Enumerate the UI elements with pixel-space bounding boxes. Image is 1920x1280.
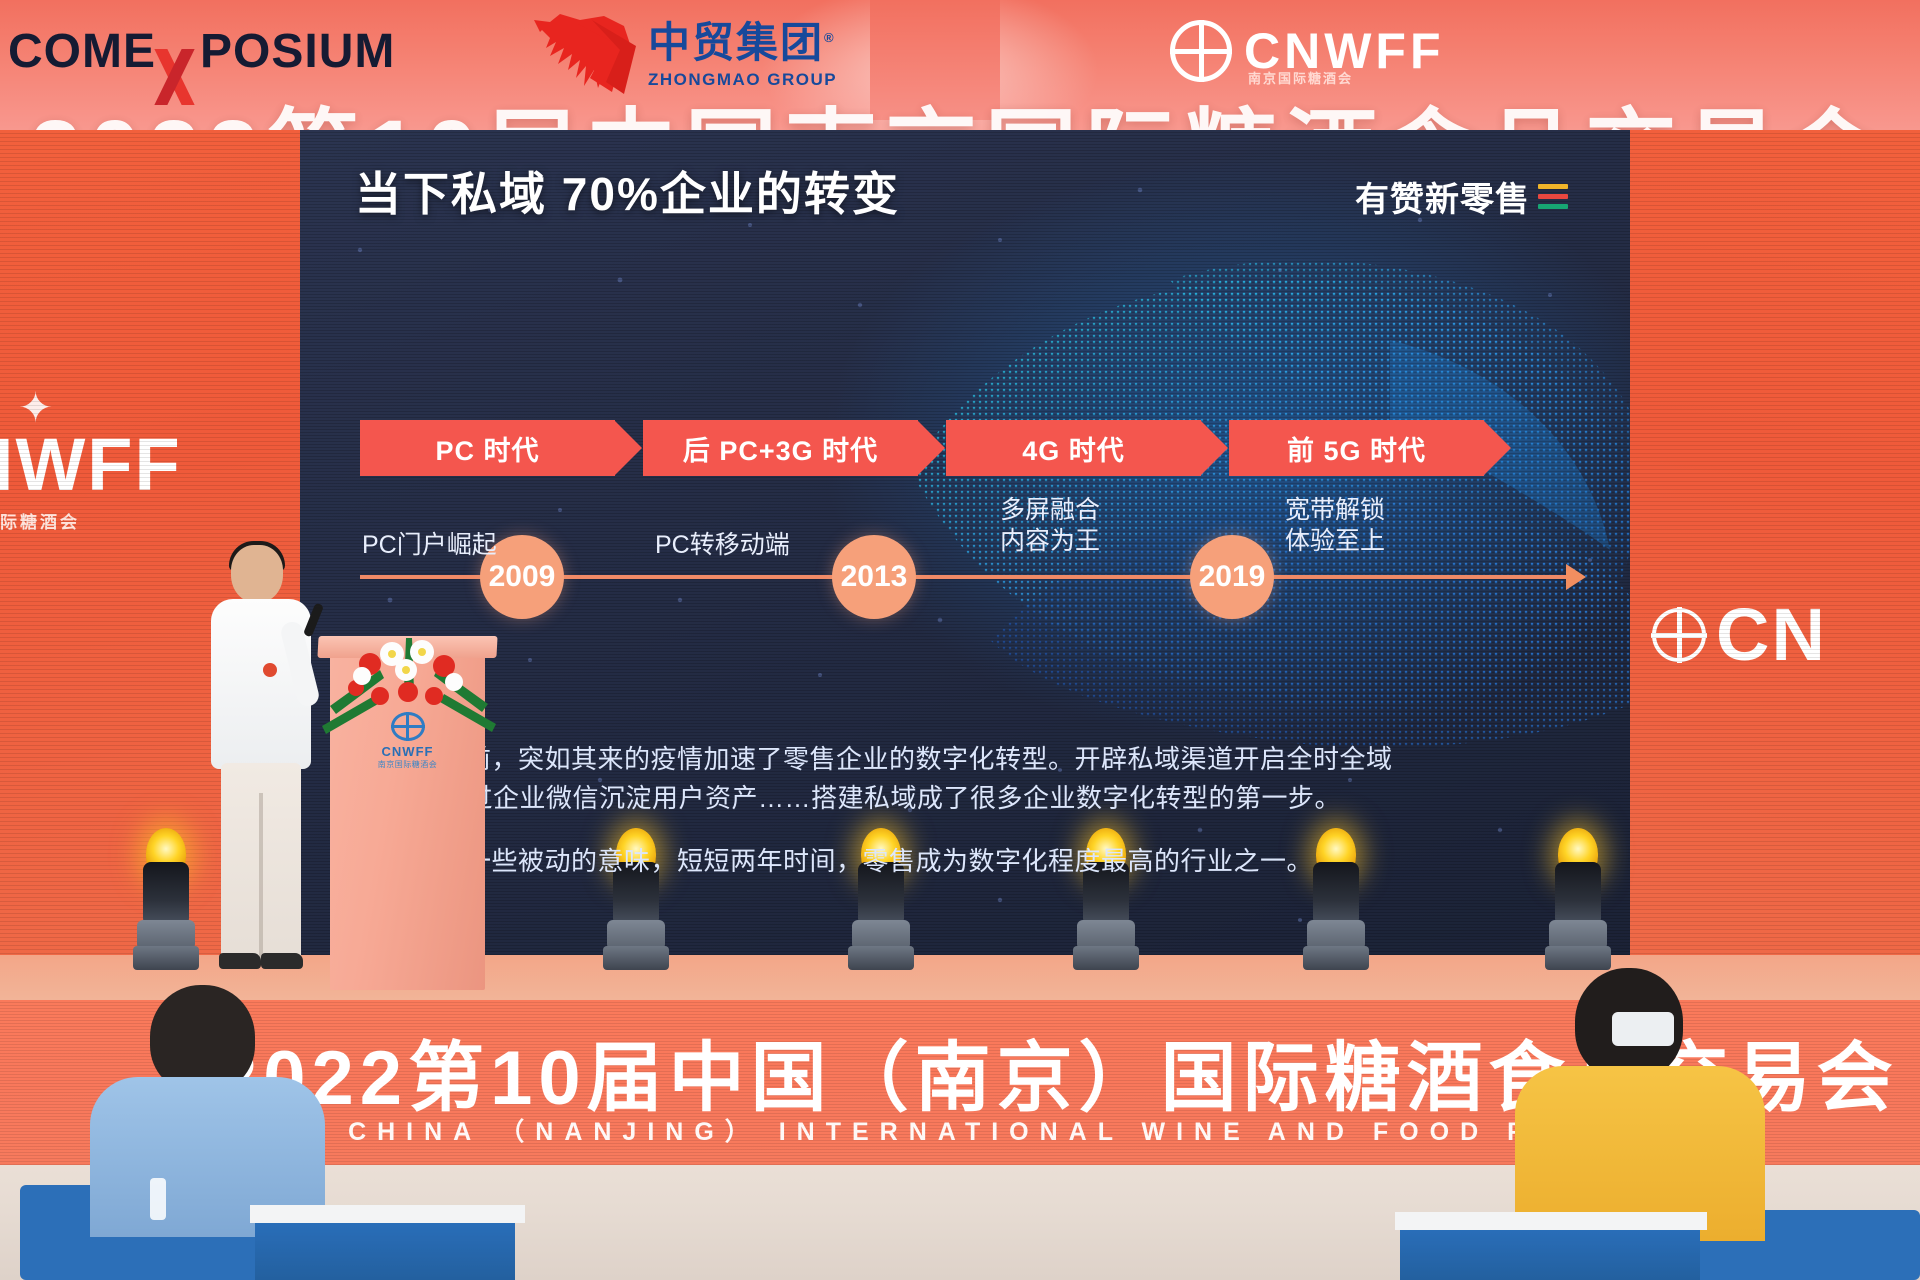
- screenshot-root: CNWFF 南京国际糖酒会 2022第10届中国南京国际糖酒食品交易会 COME…: [0, 0, 1920, 1280]
- slide-title: 当下私域 70%企业的转变: [355, 158, 900, 224]
- brand-bars-icon: [1538, 184, 1568, 209]
- flower-arrangement: [318, 630, 503, 740]
- audience-table: [255, 1218, 515, 1280]
- brand-name: 有赞新零售: [1355, 172, 1530, 221]
- left-wall-mark: NWFF 京国际糖酒会: [0, 430, 182, 533]
- caption-line: 内容为王: [1000, 526, 1100, 557]
- globe-icon-right: [1652, 608, 1706, 662]
- timeline-caption: PC转移动端: [655, 530, 790, 561]
- light-base: [133, 946, 199, 970]
- comexposium-logo: COME POSIUM: [8, 22, 395, 80]
- left-wall-subtitle: 京国际糖酒会: [0, 508, 182, 533]
- water-bottle: [150, 1178, 166, 1220]
- comexposium-wordmark-left: COME: [8, 24, 156, 79]
- era-arrow: 4G 时代: [946, 420, 1201, 476]
- podium-subtitle: 南京国际糖酒会: [378, 759, 438, 770]
- caption-line: PC转移动端: [655, 530, 790, 561]
- speaker-shoe: [219, 953, 261, 969]
- era-arrow: 后 PC+3G 时代: [643, 420, 918, 476]
- light-base: [848, 946, 914, 970]
- zhongmao-bull-icon: [520, 8, 640, 96]
- particle-wave-decoration: [870, 220, 1630, 760]
- youzan-brand-logo: 有赞新零售: [1355, 172, 1568, 221]
- left-wall-acronym: NWFF: [0, 430, 182, 500]
- year-label: 2013: [841, 560, 908, 594]
- zhongmao-text: 中贸集团® ZHONGMAO GROUP: [648, 8, 837, 90]
- era-arrow: 前 5G 时代: [1229, 420, 1484, 476]
- era-label: 后 PC+3G 时代: [683, 429, 878, 468]
- light-base: [1303, 946, 1369, 970]
- speaker-person: [205, 545, 325, 990]
- registered-mark: ®: [824, 30, 836, 45]
- speaker-legs: [221, 763, 301, 963]
- zhongmao-logo: 中贸集团® ZHONGMAO GROUP: [520, 8, 837, 96]
- comexposium-wordmark-right: POSIUM: [200, 24, 395, 79]
- led-wall-right: CN: [1630, 130, 1920, 970]
- audience-person: [110, 985, 300, 1215]
- timeline-year-marker: 2019: [1190, 535, 1274, 619]
- timeline-year-marker: 2013: [832, 535, 916, 619]
- timeline-caption: 宽带解锁 体验至上: [1285, 495, 1385, 556]
- right-wall-mark: CN: [1652, 600, 1827, 670]
- era-label: 前 5G 时代: [1287, 429, 1426, 468]
- zhongmao-name-cn: 中贸集团®: [648, 22, 837, 64]
- body-paragraph-2: 带着一些被动的意味，短短两年时间，零售成为数字化程度最高的行业之一。: [412, 842, 1592, 881]
- banner-title-en: 10TH CHINA （NANJING） INTERNATIONAL WINE …: [225, 1112, 1608, 1148]
- podium-acronym: CNWFF: [382, 744, 434, 759]
- body-paragraph-1: 两年前，突如其来的疫情加速了零售企业的数字化转型。开辟私域渠道开启全时全域 通过…: [412, 740, 1592, 818]
- zhongmao-name-en: ZHONGMAO GROUP: [648, 70, 837, 90]
- timeline-caption: PC门户崛起: [362, 530, 497, 561]
- timeline-caption: 多屏融合 内容为王: [1000, 495, 1100, 556]
- presentation-screen: 当下私域 70%企业的转变 有赞新零售 PC 时代 后 PC+3G 时代 4G …: [300, 130, 1630, 970]
- sparkle-icon: ✦: [18, 385, 64, 431]
- audience-table-top: [1395, 1212, 1707, 1230]
- speaker-badge: [263, 663, 277, 677]
- year-label: 2019: [1199, 560, 1266, 594]
- year-label: 2009: [489, 560, 556, 594]
- caption-line: 宽带解锁: [1285, 495, 1385, 526]
- era-label: 4G 时代: [1022, 429, 1125, 468]
- caption-line: 多屏融合: [1000, 495, 1100, 526]
- caption-line: 体验至上: [1285, 526, 1385, 557]
- audience-table-top: [250, 1205, 525, 1223]
- era-label: PC 时代: [435, 429, 539, 468]
- face-mask-icon: [1612, 1012, 1674, 1046]
- light-base: [603, 946, 669, 970]
- light-head: [143, 862, 189, 926]
- audience-table: [1400, 1225, 1700, 1280]
- paragraph-line: 两年前，突如其来的疫情加速了零售企业的数字化转型。开辟私域渠道开启全时全域: [412, 740, 1592, 779]
- light-base: [1073, 946, 1139, 970]
- moving-head-light: [130, 828, 202, 968]
- light-base: [1545, 946, 1611, 970]
- timeline-arrow-icon: [1566, 564, 1586, 590]
- paragraph-line: 通过企业微信沉淀用户资产……搭建私域成了很多企业数字化转型的第一步。: [412, 779, 1592, 818]
- globe-icon: [1170, 20, 1232, 82]
- era-arrow-row: PC 时代 后 PC+3G 时代 4G 时代 前 5G 时代: [360, 420, 1560, 476]
- speaker-shoe: [261, 953, 303, 969]
- era-arrow: PC 时代: [360, 420, 615, 476]
- caption-line: PC门户崛起: [362, 530, 497, 561]
- audience-person: [1520, 968, 1750, 1228]
- speaker-head: [231, 545, 283, 603]
- right-wall-acronym: CN: [1716, 600, 1827, 670]
